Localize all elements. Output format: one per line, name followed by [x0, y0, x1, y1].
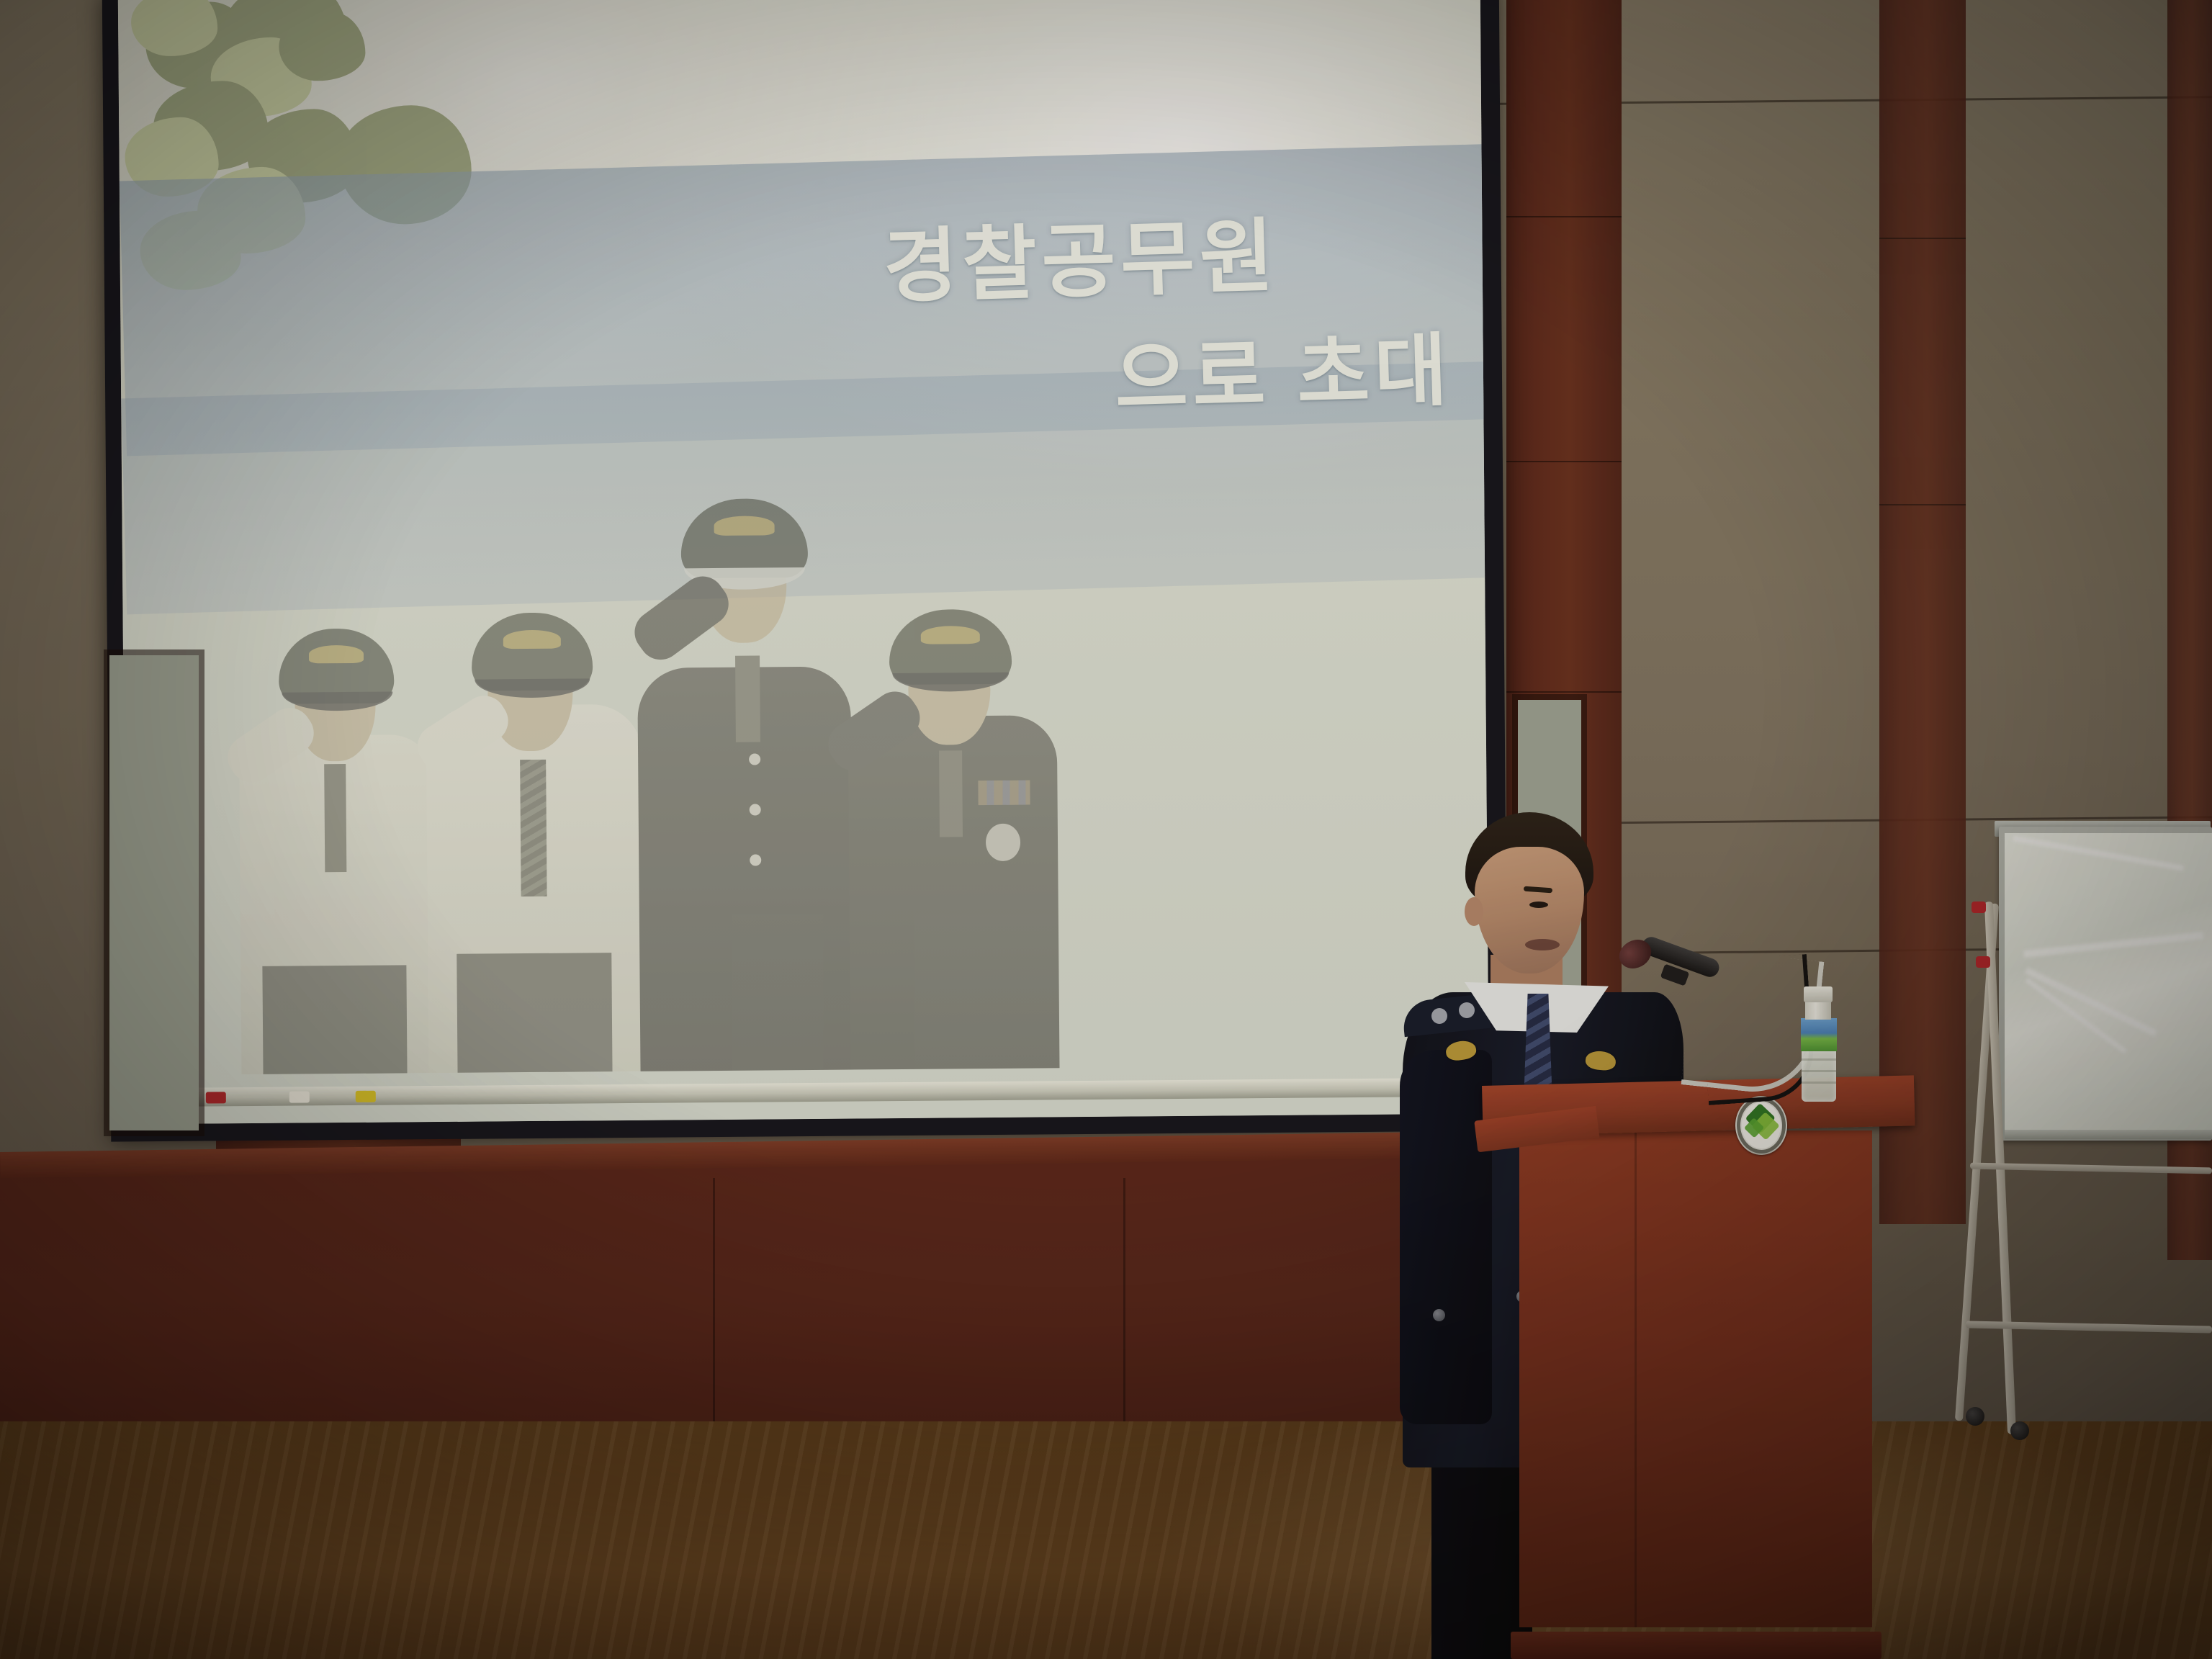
- lectern-seam: [1635, 1130, 1637, 1627]
- whiteboard-clip-upper[interactable]: [1972, 902, 1986, 913]
- whiteboard-caster-right: [2010, 1421, 2029, 1440]
- photograph-scene: 경찰공무원 으로 초대: [0, 0, 2212, 1659]
- whiteboard-clip-lower[interactable]: [1976, 956, 1990, 968]
- slide-officer-2: [418, 553, 660, 1074]
- shoulder-rank-pip-2: [1459, 1002, 1475, 1018]
- recessed-panel-left: [109, 655, 199, 1130]
- bottle-neck: [1805, 1001, 1831, 1020]
- whiteboard-marker-tray: [2005, 1130, 2212, 1139]
- bottle-label: [1801, 1018, 1837, 1051]
- projection-screen-surface: 경찰공무원 으로 초대: [118, 0, 1489, 1124]
- screen-marker-red: [206, 1092, 226, 1103]
- whiteboard-frame: [1999, 827, 2212, 1141]
- slide-officer-3: [626, 500, 868, 1071]
- uniform-button: [1433, 1309, 1445, 1321]
- slide-officer-1: [230, 583, 450, 1074]
- bottle-cap[interactable]: [1804, 986, 1833, 1002]
- speaker-mouth: [1525, 939, 1560, 950]
- whiteboard-surface[interactable]: [2005, 833, 2212, 1130]
- whiteboard-caster-left: [1966, 1407, 1984, 1426]
- screen-marker-yellow: [356, 1091, 376, 1102]
- lectern-base: [1511, 1632, 1881, 1659]
- wood-column-right: [1879, 0, 1966, 1224]
- lectern-front-panel: [1519, 1130, 1872, 1627]
- slide-title-line2: 으로 초대: [1113, 305, 1454, 430]
- mobile-whiteboard[interactable]: [1966, 827, 2212, 1475]
- slide-officer-4: [835, 564, 1076, 1070]
- shoulder-rank-pip-1: [1431, 1008, 1447, 1024]
- whiteboard-cross-rail: [1970, 1162, 2212, 1174]
- speaker-ear: [1465, 897, 1483, 926]
- slide-officers-photo: [179, 492, 1091, 1075]
- screen-marker-white: [289, 1091, 310, 1102]
- wooden-lectern: [1482, 1086, 1914, 1659]
- water-bottle[interactable]: [1798, 986, 1840, 1102]
- slide-title-line1: 경찰공무원: [881, 191, 1280, 319]
- bottle-body: [1802, 1050, 1836, 1102]
- speaker-arm: [1400, 1050, 1492, 1424]
- speaker-eye: [1529, 902, 1548, 908]
- projection-screen-frame: 경찰공무원 으로 초대: [102, 0, 1508, 1142]
